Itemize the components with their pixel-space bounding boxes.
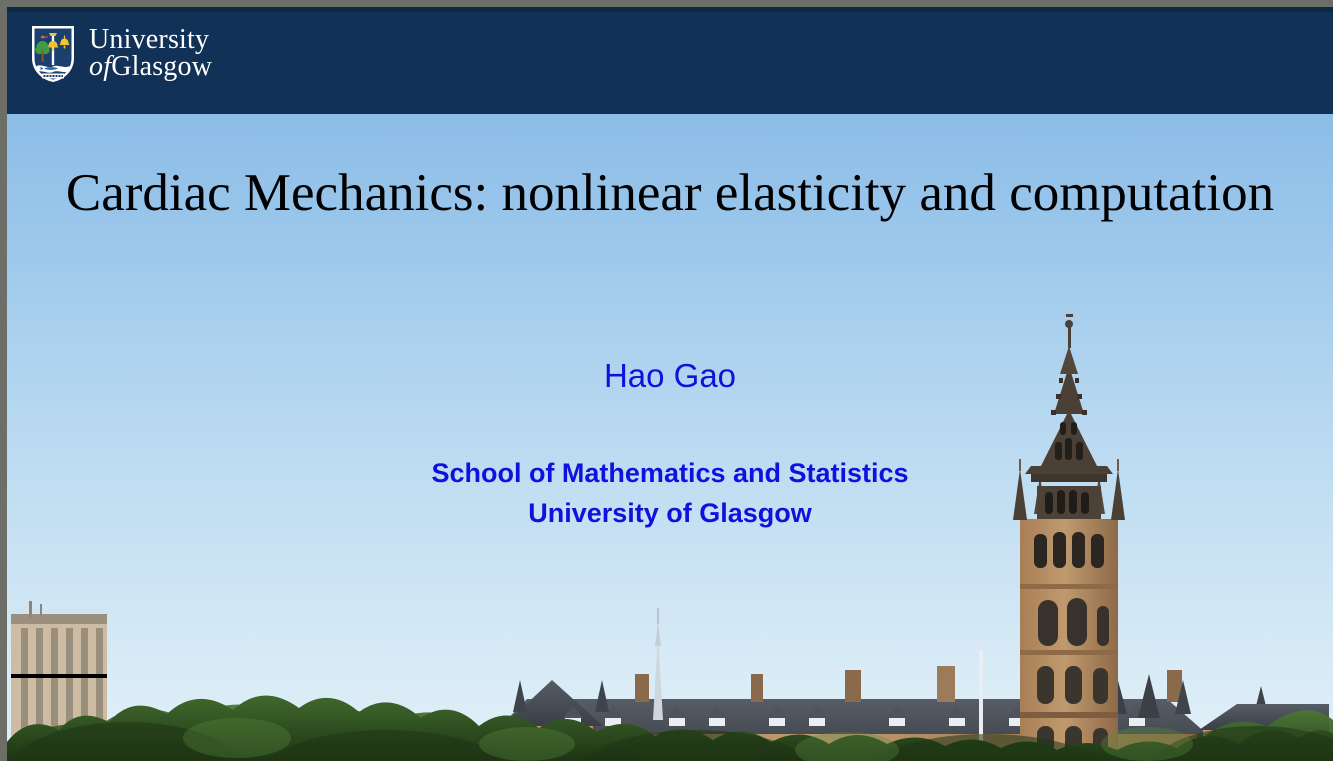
wordmark-glasgow: Glasgow [111,51,212,82]
university-logo: University ofGlasgow [30,24,212,84]
university-of-glasgow-crest-icon [30,24,76,84]
campus-photo-background [7,114,1333,761]
title-slide: Cardiac Mechanics: nonlinear elasticity … [0,0,1333,761]
slide-canvas: Cardiac Mechanics: nonlinear elasticity … [7,7,1333,761]
chapel-spire [653,608,663,720]
wordmark-line-1: University [89,27,212,54]
slide-header-bar: University ofGlasgow [7,7,1333,114]
university-wordmark: University ofGlasgow [89,27,212,81]
wordmark-of: of [89,51,111,82]
header-top-rule [7,7,1333,12]
gilbert-scott-tower [1013,314,1125,761]
wordmark-line-2: ofGlasgow [89,54,212,81]
